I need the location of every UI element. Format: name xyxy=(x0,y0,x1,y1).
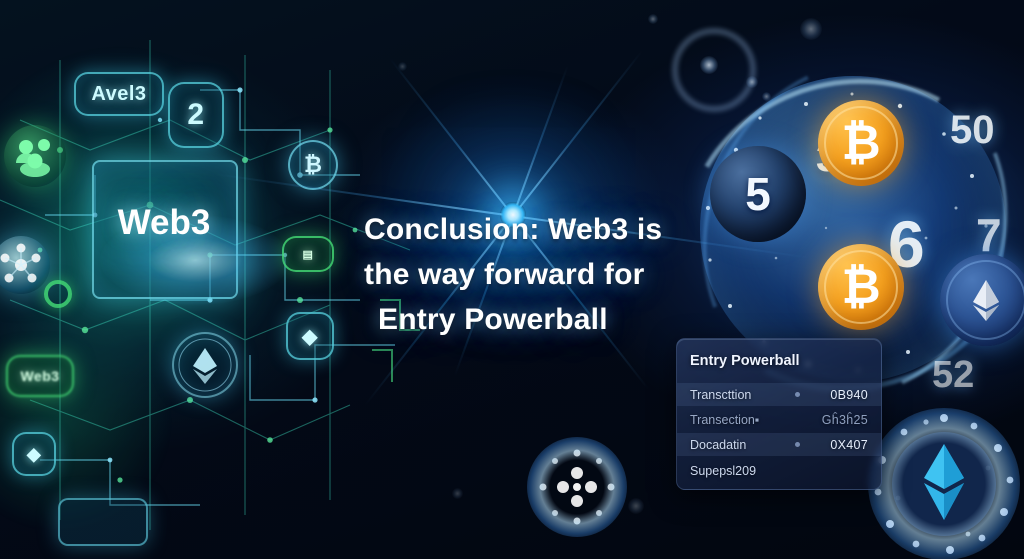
panel-row: Transcttion 0B940 xyxy=(677,383,881,406)
bitcoin-coin: ₿ xyxy=(818,100,904,186)
panel-row-label: Transection▪ xyxy=(690,413,759,427)
badge-avel3: Avel3 xyxy=(74,72,164,116)
bokeh-dot xyxy=(648,14,658,24)
web3-network-field: ₿ ▤ ◆ ◆ Web3 Avel3 2 Web3 xyxy=(0,0,420,559)
panel-row: Docadatin 0X407 xyxy=(677,433,881,456)
panel-row-dot xyxy=(795,442,800,447)
bokeh-dot xyxy=(746,76,758,88)
green-card-icon: ▤ xyxy=(282,236,334,272)
network-node-icon xyxy=(0,236,50,294)
bokeh-dot xyxy=(762,92,771,101)
small-diamond-icon: ◆ xyxy=(12,432,56,476)
entry-powerball-panel: Entry Powerball Transcttion 0B940 Transe… xyxy=(676,338,882,490)
bokeh-dot xyxy=(398,62,407,71)
lottery-ball-dark: 5 xyxy=(710,146,806,242)
panel-title: Entry Powerball xyxy=(690,353,800,369)
bokeh-dot xyxy=(452,488,463,499)
headline-line-2: the way forward for xyxy=(364,252,704,297)
panel-row-dot xyxy=(795,392,800,397)
badge-number-2: 2 xyxy=(168,82,224,148)
particle-orb xyxy=(527,437,627,537)
ethereum-diamond-icon: ◆ xyxy=(286,312,334,360)
ethereum-ring-icon xyxy=(172,332,238,398)
panel-row: Transection▪ Gĥ3ĥ25 xyxy=(677,408,881,431)
blockchain-chip-icon xyxy=(58,498,148,546)
ethereum-particle-orb xyxy=(868,408,1020,559)
panel-row: Supepsl209 xyxy=(677,459,881,482)
headline-line-3: Entry Powerball xyxy=(364,297,704,342)
people-group-icon xyxy=(4,125,66,187)
panel-row-value: Gĥ3ĥ25 xyxy=(822,413,868,427)
bokeh-dot xyxy=(700,56,718,74)
ethereum-coin xyxy=(940,254,1024,346)
panel-row-label: Supepsl209 xyxy=(690,464,756,478)
badge-web3-green: Web3 xyxy=(6,355,74,397)
panel-row-label: Docadatin xyxy=(690,438,746,452)
panel-row-value: 0B940 xyxy=(830,388,868,402)
bokeh-dot xyxy=(800,18,822,40)
promo-graphic-scene: ₿ ▤ ◆ ◆ Web3 Avel3 2 Web3 xyxy=(0,0,1024,559)
lottery-number: 50 xyxy=(950,108,995,153)
bitcoin-coin: ₿ xyxy=(818,244,904,330)
headline-line-1: Conclusion: Web3 is xyxy=(364,207,704,252)
panel-row-value: 0X407 xyxy=(830,438,868,452)
green-ring-icon xyxy=(44,280,72,308)
panel-row-label: Transcttion xyxy=(690,388,751,402)
headline-text: Conclusion: Web3 is the way forward for … xyxy=(364,207,704,342)
bokeh-dot xyxy=(628,498,644,514)
lottery-number: 52 xyxy=(932,354,974,397)
bitcoin-coin-icon: ₿ xyxy=(288,140,338,190)
web3-screen-label: Web3 xyxy=(104,203,224,243)
